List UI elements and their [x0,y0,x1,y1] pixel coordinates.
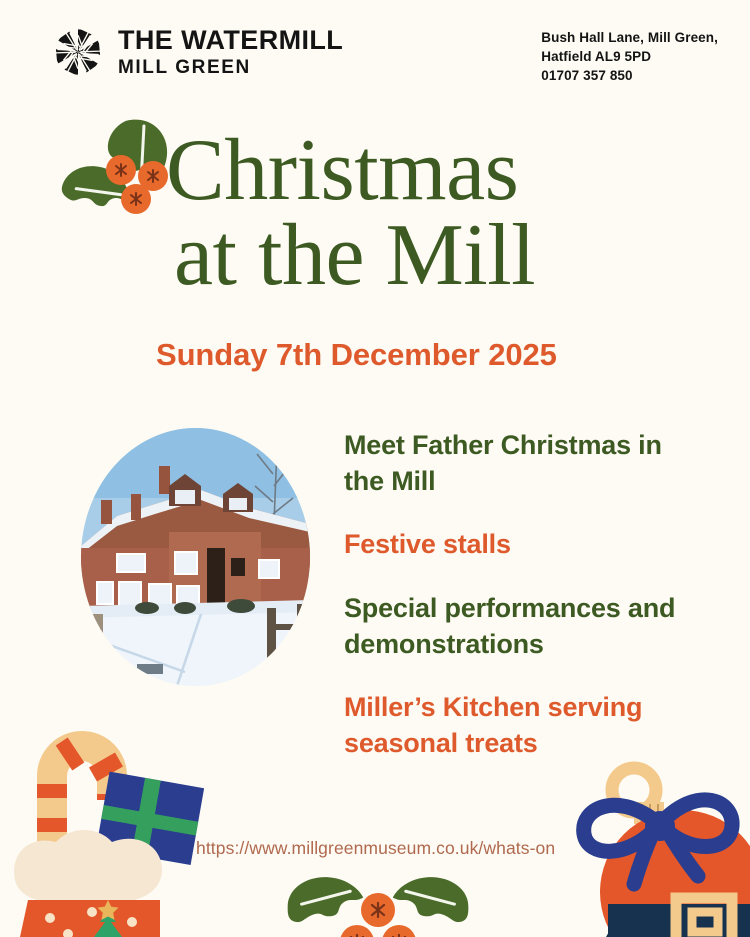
poster-title: Christmas at the Mill [166,128,535,299]
activities-list: Meet Father Christmas in the Mill Festiv… [344,428,684,761]
millstone-pinwheel-logo-icon [52,26,104,78]
list-item: Special performances and demonstrations [344,591,684,662]
brand-wordmark: THE WATERMILL MILL GREEN [118,27,343,77]
poster-canvas: THE WATERMILL MILL GREEN Bush Hall Lane,… [0,0,750,937]
watermill-photo [81,428,310,686]
title-line-2: at the Mill [166,213,535,298]
christmas-stocking-icon [0,722,204,937]
christmas-bauble-icon [572,752,750,937]
website-url[interactable]: https://www.millgreenmuseum.co.uk/whats-… [196,838,555,859]
brand-name-primary: THE WATERMILL [118,27,343,54]
address-line-2: Hatfield AL9 5PD [541,47,718,66]
holly-sprig-icon [283,866,473,937]
event-date: Sunday 7th December 2025 [156,337,557,373]
phone-number: 01707 357 850 [541,66,718,85]
brand-name-secondary: MILL GREEN [118,58,343,77]
list-item: Festive stalls [344,527,684,563]
list-item: Miller’s Kitchen serving seasonal treats [344,690,684,761]
venue-address-block: Bush Hall Lane, Mill Green, Hatfield AL9… [541,28,718,85]
title-line-1: Christmas [166,128,535,213]
list-item: Meet Father Christmas in the Mill [344,428,684,499]
poster-header: THE WATERMILL MILL GREEN Bush Hall Lane,… [0,26,750,96]
address-line-1: Bush Hall Lane, Mill Green, [541,28,718,47]
brand-lockup: THE WATERMILL MILL GREEN [52,26,343,78]
